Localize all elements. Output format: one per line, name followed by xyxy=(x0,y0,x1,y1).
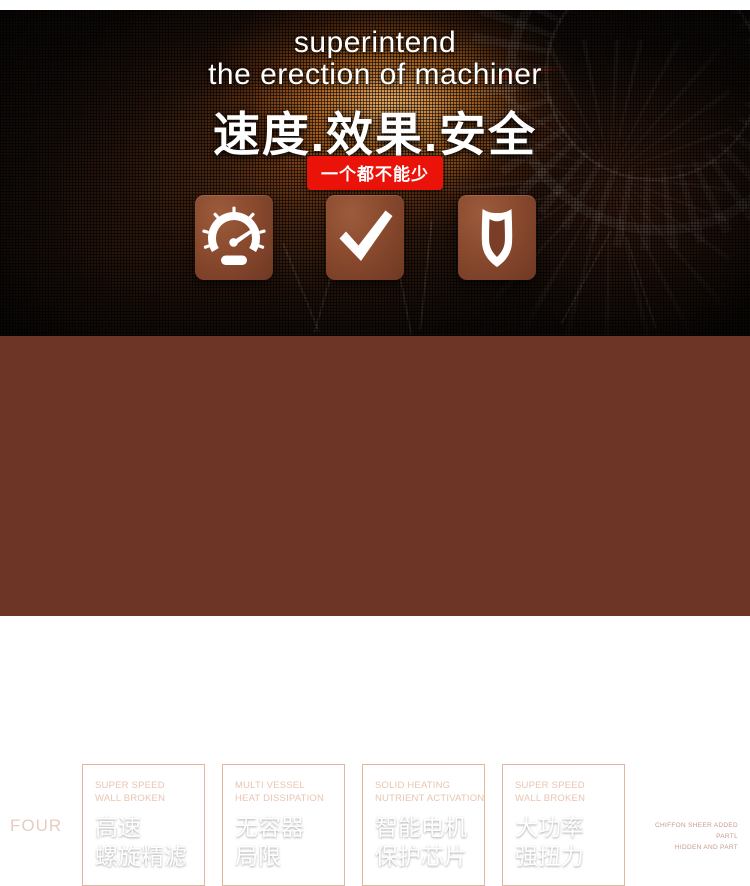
card-en-line1: MULTI VESSEL xyxy=(235,779,344,792)
feature-card: SOLID HEATING NUTRIENT ACTIVATION 智能电机 保… xyxy=(362,764,485,886)
card-en-line2: NUTRIENT ACTIVATION xyxy=(375,792,484,805)
feature-icon-row: 300kg/h 效果好 健康卫生 xyxy=(0,195,750,325)
banner-english-line2: the erection of machiner xyxy=(0,58,750,92)
card-cn-line1: 无容器 xyxy=(235,813,344,842)
feature-tile-hygiene xyxy=(458,195,536,280)
highlight-badge: 一个都不能少 xyxy=(307,156,443,190)
card-cn-line2: 局限 xyxy=(235,842,344,871)
card-cn-line1: 高速 xyxy=(95,813,204,842)
card-en-line2: WALL BROKEN xyxy=(515,792,624,805)
side-note-line2: HIDDEN AND PART xyxy=(632,842,738,853)
speedometer-icon xyxy=(195,195,273,280)
checkmark-icon xyxy=(326,195,404,280)
feature-tile-speed xyxy=(195,195,273,280)
banner-english-line1: superintend xyxy=(0,26,750,60)
features-panel: FOUR SUPER SPEED WALL BROKEN 高速 螺旋精滤 MUL… xyxy=(0,336,750,616)
card-cn-line1: 智能电机 xyxy=(375,813,484,842)
feature-card: MULTI VESSEL HEAT DISSIPATION 无容器 局限 xyxy=(222,764,345,886)
side-note-line1: CHIFFON SHEER ADDED PARTL xyxy=(632,820,738,842)
feature-card: SUPER SPEED WALL BROKEN 高速 螺旋精滤 xyxy=(82,764,205,886)
card-en-line2: WALL BROKEN xyxy=(95,792,204,805)
feature-card: SUPER SPEED WALL BROKEN 大功率 强扭力 xyxy=(502,764,625,886)
card-en-line1: SUPER SPEED xyxy=(515,779,624,792)
side-note: CHIFFON SHEER ADDED PARTL HIDDEN AND PAR… xyxy=(632,820,738,853)
shield-badge-icon xyxy=(458,195,536,280)
feature-tile-effect xyxy=(326,195,404,280)
section-label: FOUR xyxy=(10,816,62,836)
card-cn-line2: 强扭力 xyxy=(515,842,624,871)
banner-chinese-headline: 速度.效果.安全 xyxy=(0,96,750,165)
promo-page: superintend the erection of machiner 速度.… xyxy=(0,0,750,616)
hero-banner: superintend the erection of machiner 速度.… xyxy=(0,10,750,336)
card-cn-line2: 保护芯片 xyxy=(375,842,484,871)
card-cn-line1: 大功率 xyxy=(515,813,624,842)
card-en-line1: SUPER SPEED xyxy=(95,779,204,792)
card-en-line1: SOLID HEATING xyxy=(375,779,484,792)
card-cn-line2: 螺旋精滤 xyxy=(95,842,204,871)
card-en-line2: HEAT DISSIPATION xyxy=(235,792,344,805)
